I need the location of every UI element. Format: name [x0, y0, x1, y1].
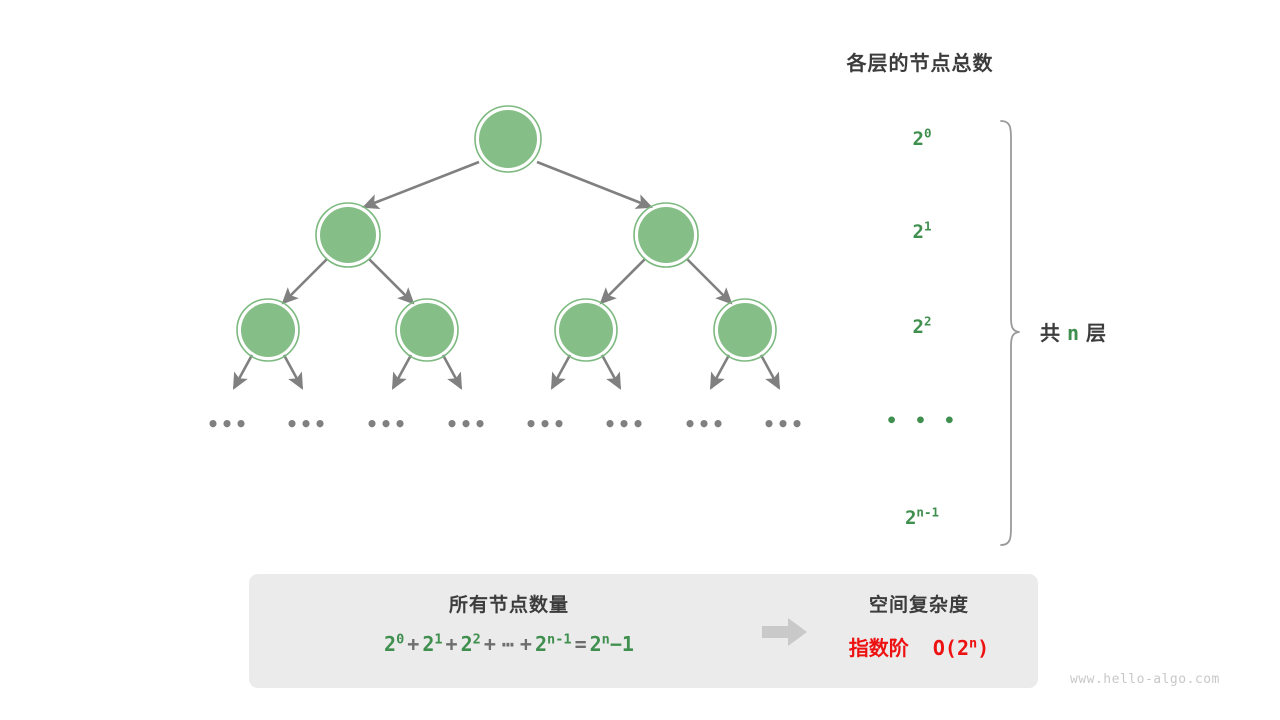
tree-edges-level-1 — [364, 162, 651, 207]
watermark: www.hello-algo.com — [1070, 672, 1220, 687]
summary-panel: 所有节点数量 20+21+22+⋯+2n-1=2n−1 空间复杂度 指数阶 O(… — [249, 574, 1038, 688]
levels-heading: 各层的节点总数 — [790, 47, 1050, 76]
level-label-0: 20 — [862, 128, 982, 150]
leaf-ellipsis-7: ••• — [682, 412, 728, 436]
total-levels-text: 共n层 — [1040, 317, 1106, 346]
level-label-1-base: 2 — [913, 221, 924, 243]
level-label-2: 22 — [862, 316, 982, 338]
level-label-last-exp: n-1 — [916, 505, 939, 520]
formula-plus-4: + — [517, 632, 535, 656]
level-label-0-exp: 0 — [924, 126, 932, 141]
leaf-ellipsis-4: ••• — [444, 412, 490, 436]
tree-node-l2-1 — [237, 299, 299, 361]
formula-term-2: 22 — [461, 632, 481, 656]
tree-nodes — [237, 106, 776, 361]
level-label-ellipsis: • • • — [862, 410, 982, 432]
leaf-ellipsis-6: ••• — [602, 412, 648, 436]
formula-term-0: 20 — [384, 632, 404, 656]
node-count-formula: 20+21+22+⋯+2n-1=2n−1 — [269, 632, 749, 656]
summary-left-title: 所有节点数量 — [269, 590, 749, 617]
tree-node-l1-right — [634, 203, 698, 267]
formula-plus-1: + — [404, 632, 422, 656]
tree-node-l2-2 — [396, 299, 458, 361]
leaf-ellipsis-8: ••• — [761, 412, 807, 436]
summary-left-block: 所有节点数量 20+21+22+⋯+2n-1=2n−1 — [269, 590, 749, 656]
level-label-ellipsis-base: • • • — [886, 410, 958, 432]
summary-right-block: 空间复杂度 指数阶 O(2n) — [819, 590, 1019, 661]
total-levels-suffix: 层 — [1086, 323, 1106, 345]
summary-right-title: 空间复杂度 — [819, 590, 1019, 617]
total-levels-variable: n — [1060, 321, 1086, 345]
formula-term-1: 21 — [422, 632, 442, 656]
complexity-value: 指数阶 O(2n) — [819, 632, 1019, 661]
level-label-last-base: 2 — [905, 507, 916, 529]
formula-equals: = — [572, 632, 590, 656]
diagram-canvas: 各层的节点总数 20 21 22 • • • 2n-1 共n层 ••• ••• … — [0, 0, 1280, 720]
level-label-0-base: 2 — [913, 128, 924, 150]
level-label-2-exp: 2 — [924, 314, 932, 329]
total-levels-prefix: 共 — [1040, 323, 1060, 345]
right-arrow-icon — [762, 617, 808, 647]
tree-node-l1-left — [316, 203, 380, 267]
level-label-1: 21 — [862, 221, 982, 243]
formula-plus-3: + — [481, 632, 499, 656]
level-label-1-exp: 1 — [924, 219, 932, 234]
tree-node-l2-4 — [714, 299, 776, 361]
leaf-ellipsis-3: ••• — [364, 412, 410, 436]
leaf-ellipsis-5: ••• — [523, 412, 569, 436]
leaf-ellipsis-2: ••• — [284, 412, 330, 436]
tree-edges-level-2 — [283, 259, 731, 303]
complexity-label: 指数阶 — [849, 638, 909, 660]
levels-brace — [1001, 121, 1019, 545]
level-label-last: 2n-1 — [862, 507, 982, 529]
formula-plus-2: + — [443, 632, 461, 656]
formula-ellipsis: ⋯ — [499, 632, 517, 656]
tree-node-root — [475, 106, 541, 172]
complexity-notation: O(2n) — [933, 636, 989, 660]
leaf-ellipsis-1: ••• — [205, 412, 251, 436]
level-label-2-base: 2 — [913, 316, 924, 338]
formula-term-last: 2n-1 — [535, 632, 572, 656]
formula-result: 2n−1 — [590, 632, 634, 656]
tree-edges-level-3 — [234, 355, 779, 388]
tree-node-l2-3 — [555, 299, 617, 361]
